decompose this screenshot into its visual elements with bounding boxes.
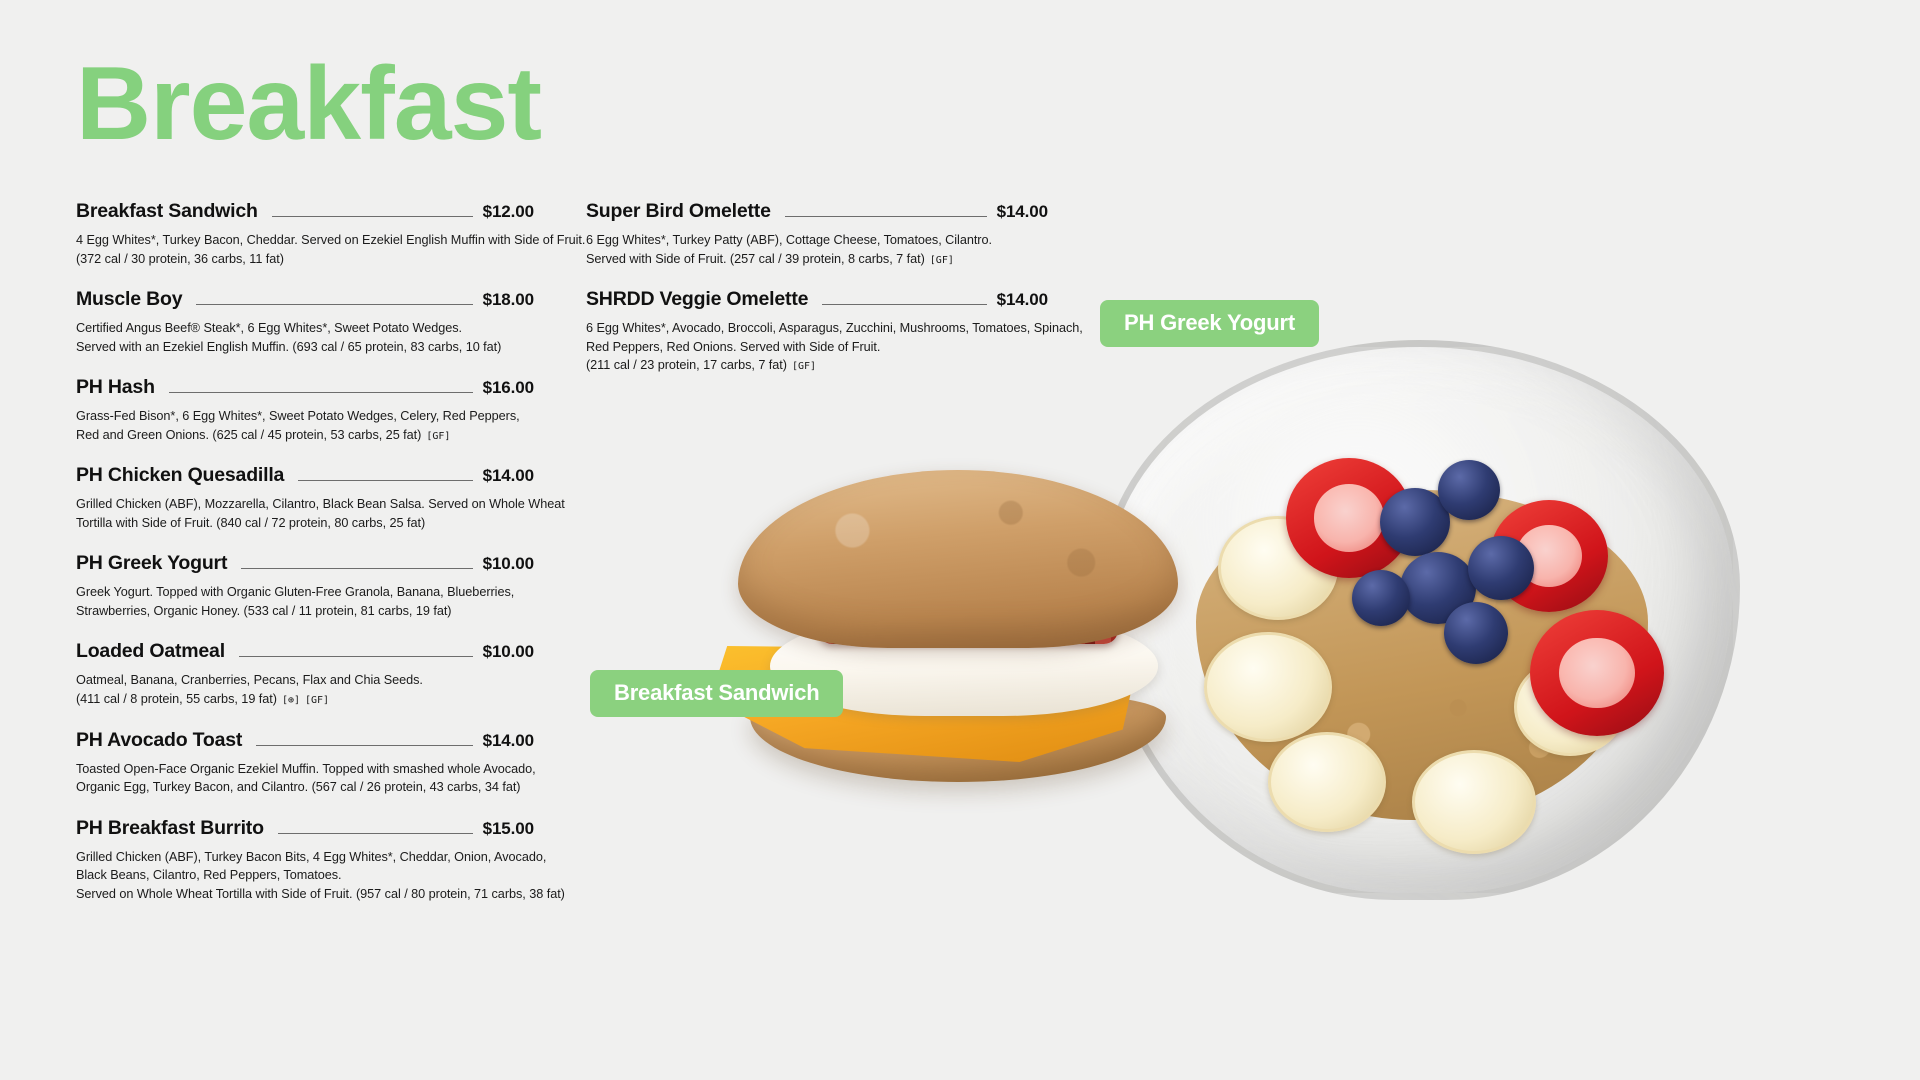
menu-item-header: PH Chicken Quesadilla$14.00 [76, 464, 534, 487]
greek-yogurt-bowl-image [1100, 340, 1740, 900]
english-muffin-top [738, 470, 1178, 648]
description-line: (411 cal / 8 protein, 55 carbs, 19 fat) [76, 692, 277, 706]
blueberry [1352, 570, 1410, 626]
banana-slice [1514, 658, 1626, 756]
menu-item-name: SHRDD Veggie Omelette [586, 288, 808, 311]
description-line-with-tags: (211 cal / 23 protein, 17 carbs, 7 fat)[… [586, 356, 1048, 375]
banana-slice [1412, 750, 1536, 854]
strawberry [1490, 500, 1608, 612]
menu-item-description: Oatmeal, Banana, Cranberries, Pecans, Fl… [76, 671, 534, 708]
menu-item-header: Super Bird Omelette$14.00 [586, 200, 1048, 223]
menu-item-name: Muscle Boy [76, 288, 182, 311]
menu-item-name: Loaded Oatmeal [76, 640, 225, 663]
menu-item-header: PH Breakfast Burrito$15.00 [76, 817, 534, 840]
menu-item-name: Breakfast Sandwich [76, 200, 258, 223]
description-line: Red Peppers, Red Onions. Served with Sid… [586, 338, 1048, 357]
menu-item-name: PH Greek Yogurt [76, 552, 227, 575]
menu-item-price: $14.00 [483, 466, 534, 486]
menu-item-name: PH Hash [76, 376, 155, 399]
description-line: Red and Green Onions. (625 cal / 45 prot… [76, 428, 421, 442]
menu-item-price: $12.00 [483, 202, 534, 222]
dot-leader [196, 304, 472, 305]
menu-item: SHRDD Veggie Omelette$14.006 Egg Whites*… [586, 288, 1048, 375]
blueberry [1380, 488, 1450, 556]
blueberry [1444, 602, 1508, 664]
description-line: 4 Egg Whites*, Turkey Bacon, Cheddar. Se… [76, 231, 534, 250]
menu-item-header: SHRDD Veggie Omelette$14.00 [586, 288, 1048, 311]
menu-item: PH Chicken Quesadilla$14.00Grilled Chick… [76, 464, 534, 532]
photo-label-breakfast-sandwich: Breakfast Sandwich [590, 670, 843, 717]
blueberry [1400, 552, 1476, 624]
dot-leader [278, 833, 473, 834]
menu-item: Super Bird Omelette$14.006 Egg Whites*, … [586, 200, 1048, 268]
dietary-tag: [GF] [305, 695, 329, 706]
dietary-tag: [GF] [792, 361, 816, 372]
strawberry [1530, 610, 1664, 736]
menu-item: PH Avocado Toast$14.00Toasted Open-Face … [76, 729, 534, 797]
description-line: Tortilla with Side of Fruit. (840 cal / … [76, 514, 534, 533]
description-line: Greek Yogurt. Topped with Organic Gluten… [76, 583, 534, 602]
photo-label-greek-yogurt: PH Greek Yogurt [1100, 300, 1319, 347]
breakfast-sandwich-image [710, 470, 1210, 770]
dot-leader [822, 304, 986, 305]
menu-item-price: $15.00 [483, 819, 534, 839]
menu-item: Loaded Oatmeal$10.00Oatmeal, Banana, Cra… [76, 640, 534, 708]
menu-item-name: PH Chicken Quesadilla [76, 464, 284, 487]
menu-item-description: Toasted Open-Face Organic Ezekiel Muffin… [76, 760, 534, 797]
description-line: Oatmeal, Banana, Cranberries, Pecans, Fl… [76, 671, 534, 690]
description-line: Toasted Open-Face Organic Ezekiel Muffin… [76, 760, 534, 779]
menu-item-price: $14.00 [997, 290, 1048, 310]
description-line: 6 Egg Whites*, Turkey Patty (ABF), Cotta… [586, 231, 1048, 250]
menu-item: PH Breakfast Burrito$15.00Grilled Chicke… [76, 817, 534, 904]
menu-item-price: $10.00 [483, 642, 534, 662]
blueberry [1468, 536, 1534, 600]
description-line-with-tags: (411 cal / 8 protein, 55 carbs, 19 fat)[… [76, 690, 534, 709]
description-line: (372 cal / 30 protein, 36 carbs, 11 fat) [76, 250, 534, 269]
turkey-bacon [818, 610, 1118, 644]
menu-item-header: PH Avocado Toast$14.00 [76, 729, 534, 752]
menu-item-header: PH Greek Yogurt$10.00 [76, 552, 534, 575]
description-line: Grilled Chicken (ABF), Mozzarella, Cilan… [76, 495, 534, 514]
menu-item-description: Greek Yogurt. Topped with Organic Gluten… [76, 583, 534, 620]
dietary-tag: [GF] [426, 431, 450, 442]
dietary-tag: [⊕] [282, 695, 300, 706]
description-line: 6 Egg Whites*, Avocado, Broccoli, Aspara… [586, 319, 1048, 338]
menu-column-left: Breakfast Sandwich$12.004 Egg Whites*, T… [76, 200, 534, 923]
description-line: (211 cal / 23 protein, 17 carbs, 7 fat) [586, 358, 787, 372]
description-line-with-tags: Red and Green Onions. (625 cal / 45 prot… [76, 426, 534, 445]
menu-item-description: 6 Egg Whites*, Turkey Patty (ABF), Cotta… [586, 231, 1048, 268]
menu-item-description: 6 Egg Whites*, Avocado, Broccoli, Aspara… [586, 319, 1048, 375]
menu-item-name: Super Bird Omelette [586, 200, 771, 223]
description-line: Certified Angus Beef® Steak*, 6 Egg Whit… [76, 319, 534, 338]
menu-item-price: $16.00 [483, 378, 534, 398]
description-line: Served on Whole Wheat Tortilla with Side… [76, 885, 534, 904]
menu-item-header: PH Hash$16.00 [76, 376, 534, 399]
menu-item-price: $14.00 [483, 731, 534, 751]
banana-slice [1204, 632, 1332, 742]
strawberry [1286, 458, 1412, 578]
menu-item-description: Certified Angus Beef® Steak*, 6 Egg Whit… [76, 319, 534, 356]
menu-item-header: Muscle Boy$18.00 [76, 288, 534, 311]
menu-item-description: Grilled Chicken (ABF), Turkey Bacon Bits… [76, 848, 534, 904]
banana-slice [1218, 516, 1338, 620]
dot-leader [785, 216, 987, 217]
menu-item: PH Greek Yogurt$10.00Greek Yogurt. Toppe… [76, 552, 534, 620]
menu-item-name: PH Avocado Toast [76, 729, 242, 752]
page-title: Breakfast [76, 52, 541, 156]
glass-bowl [1100, 340, 1740, 900]
description-line: Served with Side of Fruit. (257 cal / 39… [586, 252, 925, 266]
menu-column-right: Super Bird Omelette$14.006 Egg Whites*, … [586, 200, 1048, 395]
description-line: Grilled Chicken (ABF), Turkey Bacon Bits… [76, 848, 534, 867]
dot-leader [272, 216, 473, 217]
description-line: Organic Egg, Turkey Bacon, and Cilantro.… [76, 778, 534, 797]
description-line: Strawberries, Organic Honey. (533 cal / … [76, 602, 534, 621]
menu-item: PH Hash$16.00Grass-Fed Bison*, 6 Egg Whi… [76, 376, 534, 444]
dot-leader [169, 392, 473, 393]
menu-item-description: 4 Egg Whites*, Turkey Bacon, Cheddar. Se… [76, 231, 534, 268]
menu-item: Muscle Boy$18.00Certified Angus Beef® St… [76, 288, 534, 356]
banana-slice [1268, 732, 1386, 832]
menu-item-name: PH Breakfast Burrito [76, 817, 264, 840]
description-line: Served with an Ezekiel English Muffin. (… [76, 338, 534, 357]
dot-leader [256, 745, 472, 746]
dot-leader [239, 656, 473, 657]
granola [1196, 490, 1648, 820]
dietary-tag: [GF] [930, 255, 954, 266]
menu-item-price: $10.00 [483, 554, 534, 574]
description-line: Grass-Fed Bison*, 6 Egg Whites*, Sweet P… [76, 407, 534, 426]
dot-leader [298, 480, 472, 481]
blueberry [1438, 460, 1500, 520]
dot-leader [241, 568, 472, 569]
menu-item-description: Grilled Chicken (ABF), Mozzarella, Cilan… [76, 495, 534, 532]
menu-item-header: Breakfast Sandwich$12.00 [76, 200, 534, 223]
menu-item-description: Grass-Fed Bison*, 6 Egg Whites*, Sweet P… [76, 407, 534, 444]
menu-item-price: $14.00 [997, 202, 1048, 222]
menu-item-price: $18.00 [483, 290, 534, 310]
description-line-with-tags: Served with Side of Fruit. (257 cal / 39… [586, 250, 1048, 269]
menu-item: Breakfast Sandwich$12.004 Egg Whites*, T… [76, 200, 534, 268]
description-line: Black Beans, Cilantro, Red Peppers, Toma… [76, 866, 534, 885]
menu-item-header: Loaded Oatmeal$10.00 [76, 640, 534, 663]
